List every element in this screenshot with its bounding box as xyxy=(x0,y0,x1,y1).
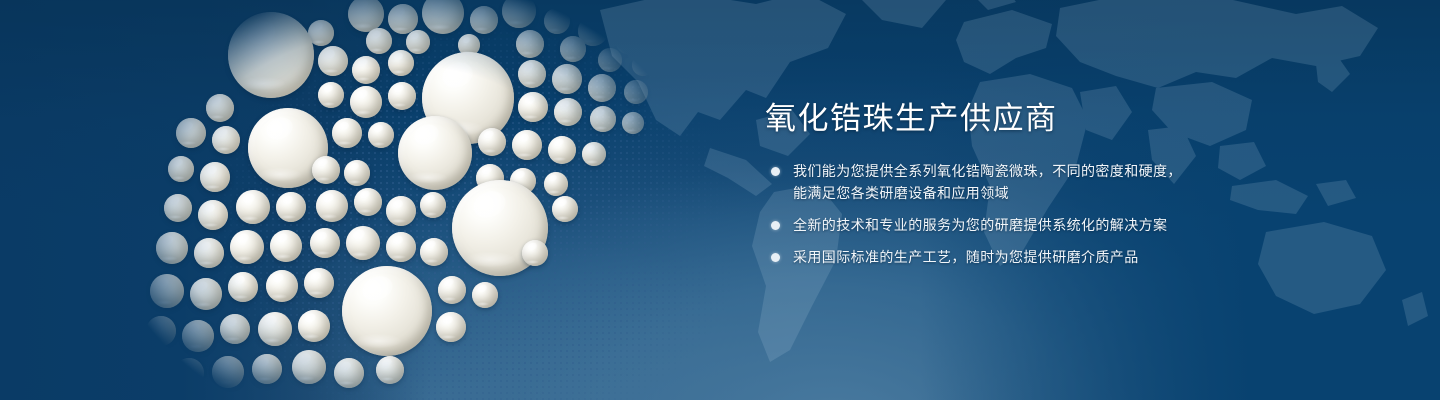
banner-title: 氧化锆珠生产供应商 xyxy=(765,100,1325,138)
bullet-dot-icon xyxy=(771,221,780,230)
feature-list-item: 我们能为您提供全系列氧化锆陶瓷微珠，不同的密度和硬度， 能满足您各类研磨设备和应… xyxy=(765,160,1325,204)
feature-list-item: 采用国际标准的生产工艺，随时为您提供研磨介质产品 xyxy=(765,246,1325,268)
banner-text-block: 氧化锆珠生产供应商 我们能为您提供全系列氧化锆陶瓷微珠，不同的密度和硬度， 能满… xyxy=(765,100,1325,268)
feature-text-line: 采用国际标准的生产工艺，随时为您提供研磨介质产品 xyxy=(793,246,1325,268)
bullet-dot-icon xyxy=(771,167,780,176)
feature-list-item: 全新的技术和专业的服务为您的研磨提供系统化的解决方案 xyxy=(765,214,1325,236)
feature-text-line: 能满足您各类研磨设备和应用领域 xyxy=(793,182,1325,204)
banner-feature-list: 我们能为您提供全系列氧化锆陶瓷微珠，不同的密度和硬度， 能满足您各类研磨设备和应… xyxy=(765,160,1325,268)
bullet-dot-icon xyxy=(771,253,780,262)
hero-banner: 氧化锆珠生产供应商 我们能为您提供全系列氧化锆陶瓷微珠，不同的密度和硬度， 能满… xyxy=(0,0,1440,400)
feature-text-line: 全新的技术和专业的服务为您的研磨提供系统化的解决方案 xyxy=(793,214,1325,236)
feature-text-line: 我们能为您提供全系列氧化锆陶瓷微珠，不同的密度和硬度， xyxy=(793,160,1325,182)
